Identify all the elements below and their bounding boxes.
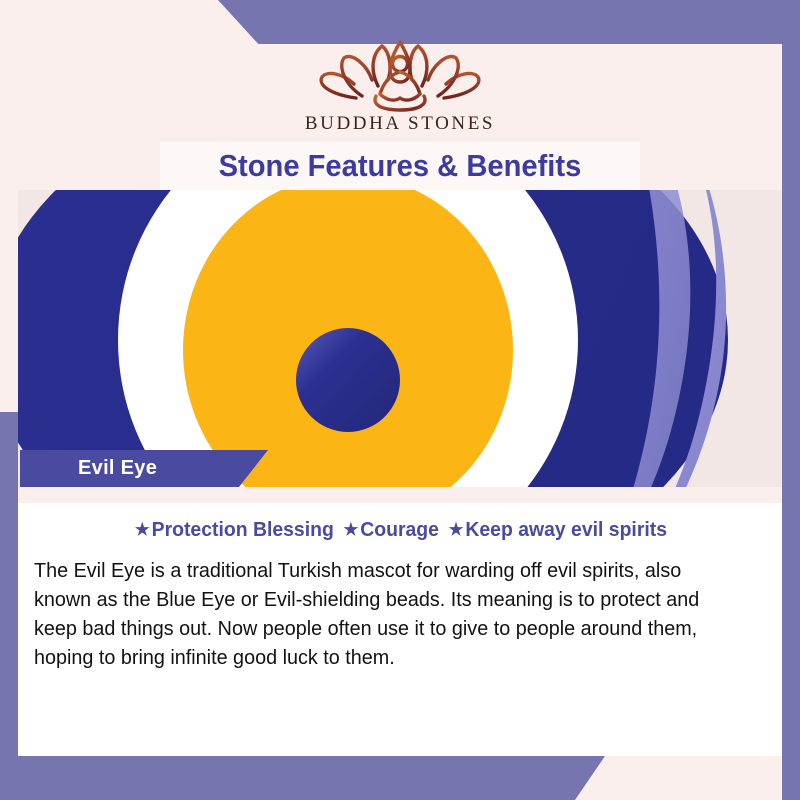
benefit-item-0: Protection Blessing	[152, 519, 334, 541]
title-banner: Stone Features & Benefits	[160, 142, 640, 190]
frame-bottom-band	[0, 756, 800, 800]
description-text: The Evil Eye is a traditional Turkish ma…	[34, 556, 740, 672]
poster-canvas: BUDDHA STONES Stone Features & Benefits	[0, 0, 800, 800]
brand-header: BUDDHA STONES	[18, 44, 782, 140]
star-icon: ★	[135, 520, 150, 540]
product-label-banner: Evil Eye	[20, 450, 268, 487]
lotus-meditation-icon	[310, 36, 490, 119]
benefits-list: ★Protection Blessing★Courage★Keep away e…	[29, 519, 770, 542]
benefit-item-1: Courage	[360, 519, 439, 541]
star-icon: ★	[449, 520, 464, 540]
evil-eye-bead-icon	[18, 190, 782, 487]
benefit-item-2: Keep away evil spirits	[465, 519, 667, 541]
frame-left-band	[0, 412, 18, 800]
brand-name: BUDDHA STONES	[305, 113, 495, 135]
frame-right-band	[782, 0, 800, 800]
product-label: Evil Eye	[78, 457, 157, 480]
page-title: Stone Features & Benefits	[219, 148, 582, 184]
star-icon: ★	[344, 520, 359, 540]
description-card: ★Protection Blessing★Courage★Keep away e…	[18, 503, 782, 756]
